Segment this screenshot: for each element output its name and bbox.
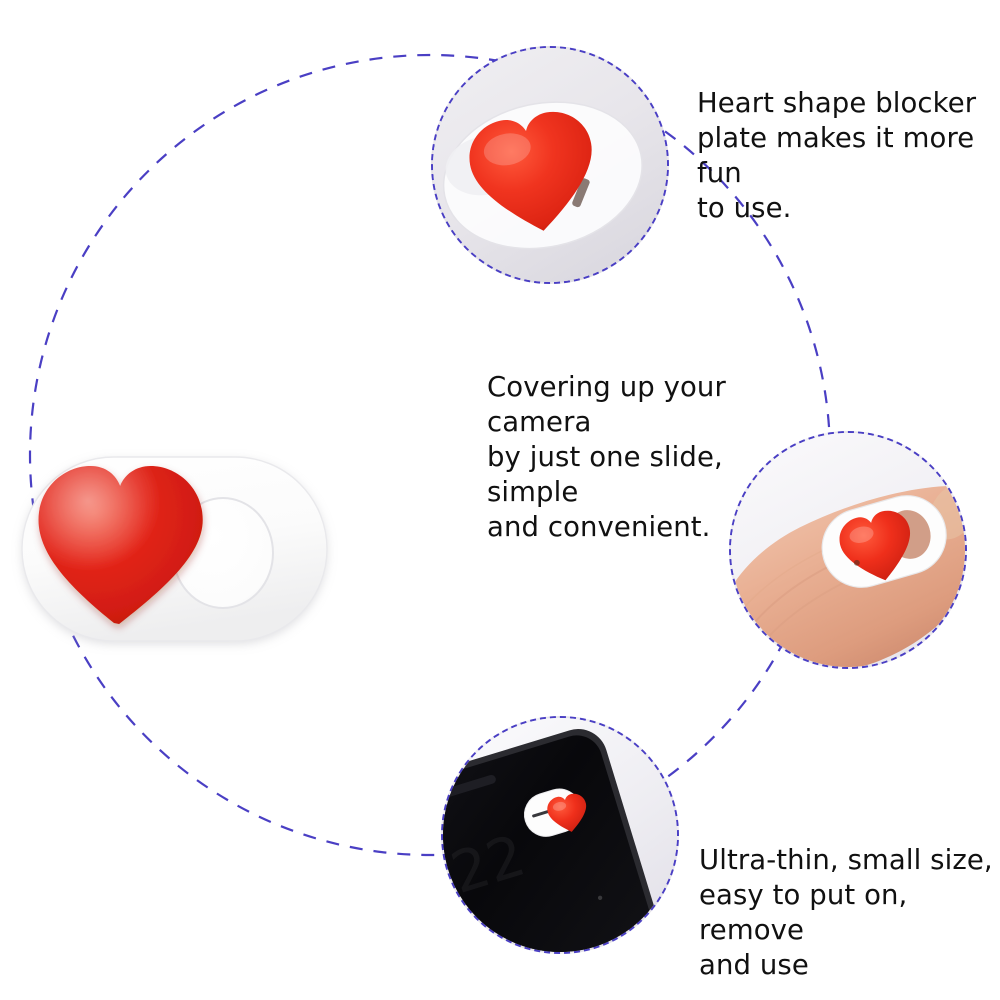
inset-cover-mounted-on-phone: 22 [441, 716, 679, 954]
inset-heart-blocker-closeup [431, 46, 669, 284]
callout-one-slide: Covering up your camera by just one slid… [487, 370, 812, 545]
hero-product-image [8, 440, 338, 655]
inset-top-art [433, 48, 667, 282]
inset-right-slider-dot [854, 560, 860, 566]
inset-bottom-art: 22 [443, 718, 677, 952]
callout-heart-shape: Heart shape blocker plate makes it more … [697, 86, 997, 226]
infographic-canvas: 22 Heart shape blocker plate makes it mo… [0, 0, 1000, 1000]
heart-webcam-cover-art [8, 440, 338, 655]
callout-ultra-thin: Ultra-thin, small size, easy to put on, … [699, 843, 999, 983]
